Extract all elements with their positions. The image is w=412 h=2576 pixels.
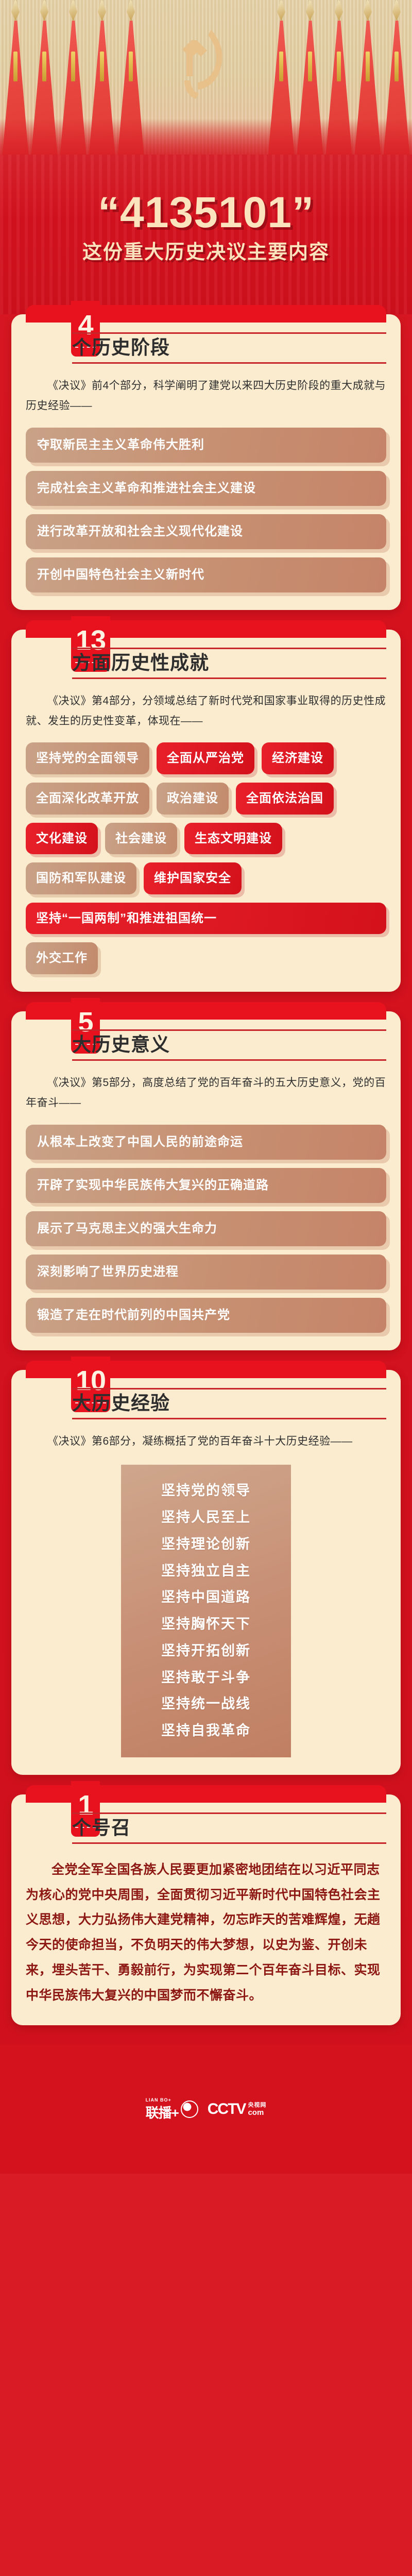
tag-item: 文化建设 [26, 823, 98, 855]
section-description: 《决议》第6部分，凝练概括了党的百年奋斗十大历史经验—— [26, 1432, 386, 1452]
section-item-list: 从根本上改变了中国人民的前途命运 开辟了实现中华民族伟大复兴的正确道路 展示了马… [26, 1125, 386, 1333]
section-header: 5 大历史意义 [26, 1011, 386, 1061]
column-line: 坚持胸怀天下 [161, 1616, 251, 1633]
section-title: 个历史阶段 [72, 337, 386, 359]
list-item: 从根本上改变了中国人民的前途命运 [26, 1125, 386, 1160]
list-item: 展示了马克思主义的强大生命力 [26, 1211, 386, 1246]
lianbo-logo-plus: + [171, 2105, 179, 2121]
hero-title-block: “4135101” 这份重大历史决议主要内容 [0, 191, 412, 265]
cctv-logo-domain: com [248, 2108, 264, 2117]
tag-item: 全面依法治国 [236, 783, 334, 815]
hero-banner: “4135101” 这份重大历史决议主要内容 [0, 0, 412, 314]
tag-item: 国防和军队建设 [26, 862, 136, 894]
list-item: 完成社会主义革命和推进社会主义建设 [26, 471, 386, 506]
column-line: 坚持统一战线 [161, 1696, 251, 1713]
list-item: 开创中国特色社会主义新时代 [26, 557, 386, 592]
column-line: 坚持人民至上 [161, 1509, 251, 1527]
section-header: 1 个号召 [26, 1794, 386, 1844]
cctv-logo-text: CCTV [208, 2100, 246, 2118]
section-header: 4 个历史阶段 [26, 314, 386, 364]
section-title: 方面历史性成就 [72, 652, 386, 674]
section-title-box: 个号召 [72, 1812, 386, 1844]
tag-item: 全面从严治党 [157, 742, 254, 774]
hammer-sickle-emblem-icon [181, 27, 231, 101]
list-item: 进行改革开放和社会主义现代化建设 [26, 514, 386, 549]
cctv-logo: CCTV 央视网 com [208, 2100, 267, 2118]
call-to-action-text: 全党全军全国各族人民要更加紧密地团结在以习近平同志为核心的党中央周围，全面贯彻习… [26, 1857, 386, 2008]
section-title-box: 大历史经验 [72, 1388, 386, 1419]
lianbo-logo-cn: 联播 [146, 2105, 171, 2121]
section-title: 大历史经验 [72, 1393, 386, 1415]
list-item: 开辟了实现中华民族伟大复兴的正确道路 [26, 1168, 386, 1203]
tag-item: 社会建设 [105, 823, 177, 855]
column-line: 坚持自我革命 [161, 1722, 251, 1740]
section-description: 《决议》前4个部分，科学阐明了建党以来四大历史阶段的重大成就与历史经验—— [26, 376, 386, 416]
column-line: 坚持中国道路 [161, 1589, 251, 1606]
column-line: 坚持敢于斗争 [161, 1669, 251, 1687]
section-card-call-to-action: 1 个号召 全党全军全国各族人民要更加紧密地团结在以习近平同志为核心的党中央周围… [11, 1794, 401, 2026]
footer-logos: LIAN BO+ 联播+ CCTV 央视网 com [0, 2045, 412, 2174]
section-title: 个号召 [72, 1817, 386, 1839]
section-tag-list: 坚持党的全面领导 全面从严治党 经济建设 全面深化改革开放 政治建设 全面依法治… [26, 742, 386, 974]
lianbo-logo-en: LIAN BO+ [146, 2097, 179, 2103]
section-description: 《决议》第5部分，高度总结了党的百年奋斗的五大历史意义，党的百年奋斗—— [26, 1073, 386, 1113]
list-item: 锻造了走在时代前列的中国共产党 [26, 1298, 386, 1333]
section-title-box: 大历史意义 [72, 1029, 386, 1061]
tag-item: 全面深化改革开放 [26, 783, 149, 815]
experience-column-block: 坚持党的领导 坚持人民至上 坚持理论创新 坚持独立自主 坚持中国道路 坚持胸怀天… [121, 1465, 291, 1757]
poster-root: “4135101” 这份重大历史决议主要内容 4 个历史阶段 《决议》前4个部分… [0, 0, 412, 2174]
section-title-box: 个历史阶段 [72, 332, 386, 364]
section-item-list: 夺取新民主主义革命伟大胜利 完成社会主义革命和推进社会主义建设 进行改革开放和社… [26, 428, 386, 592]
tag-item: 生态文明建设 [184, 823, 282, 855]
section-card-historic-significance: 5 大历史意义 《决议》第5部分，高度总结了党的百年奋斗的五大历史意义，党的百年… [11, 1011, 401, 1350]
cctv-logo-cn: 央视网 com [248, 2102, 266, 2117]
tag-item: 经济建设 [262, 742, 334, 774]
section-card-historical-stages: 4 个历史阶段 《决议》前4个部分，科学阐明了建党以来四大历史阶段的重大成就与历… [11, 314, 401, 610]
column-line: 坚持独立自主 [161, 1563, 251, 1580]
column-line: 坚持开拓创新 [161, 1642, 251, 1660]
list-item: 夺取新民主主义革命伟大胜利 [26, 428, 386, 463]
lianbo-logo: LIAN BO+ 联播+ [146, 2097, 198, 2122]
tag-item: 外交工作 [26, 942, 98, 974]
section-header: 10 大历史经验 [26, 1370, 386, 1419]
section-description: 《决议》第4部分，分领域总结了新时代党和国家事业取得的历史性成就、发生的历史性变… [26, 691, 386, 732]
globe-icon [181, 2100, 198, 2118]
section-card-historic-experience: 10 大历史经验 《决议》第6部分，凝练概括了党的百年奋斗十大历史经验—— 坚持… [11, 1370, 401, 1775]
section-card-historic-achievements: 13 方面历史性成就 《决议》第4部分，分领域总结了新时代党和国家事业取得的历史… [11, 630, 401, 992]
section-title: 大历史意义 [72, 1034, 386, 1056]
section-title-box: 方面历史性成就 [72, 648, 386, 679]
column-line: 坚持理论创新 [161, 1536, 251, 1553]
tag-item: 政治建设 [157, 783, 229, 815]
tag-item: 维护国家安全 [144, 862, 242, 894]
page-subtitle: 这份重大历史决议主要内容 [0, 241, 412, 265]
tag-item: 坚持党的全面领导 [26, 742, 149, 774]
sections-container: 4 个历史阶段 《决议》前4个部分，科学阐明了建党以来四大历史阶段的重大成就与历… [0, 314, 412, 2025]
column-line: 坚持党的领导 [161, 1482, 251, 1500]
section-header: 13 方面历史性成就 [26, 630, 386, 679]
tag-item: 坚持“一国两制”和推进祖国统一 [26, 903, 386, 935]
page-title-number: “4135101” [0, 191, 412, 234]
list-item: 深刻影响了世界历史进程 [26, 1255, 386, 1290]
cctv-logo-cn-top: 央视网 [248, 2102, 266, 2109]
